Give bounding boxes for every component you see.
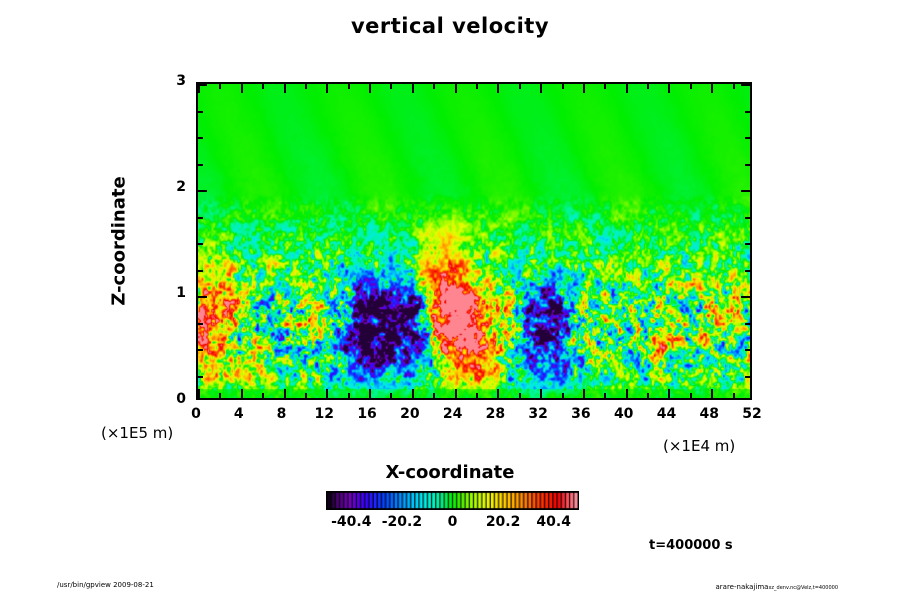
x-axis-tick-minor [433, 393, 435, 398]
y-axis-tick-label: 0 [158, 391, 186, 407]
x-axis-tick-top-major [241, 84, 243, 93]
y-axis-tick-minor [198, 376, 203, 378]
x-axis-tick-label: 44 [646, 406, 686, 422]
x-axis-tick-label: 24 [433, 406, 473, 422]
x-axis-tick-minor [305, 393, 307, 398]
footer-user: arare-nakajima [716, 583, 769, 591]
x-axis-tick-major [540, 389, 542, 398]
x-axis-tick-major [626, 389, 628, 398]
x-axis-tick-top-minor [604, 84, 606, 89]
y-axis-tick-minor [198, 323, 203, 325]
x-axis-tick-top-major [540, 84, 542, 93]
x-axis-tick-top-minor [647, 84, 649, 89]
y-axis-tick-right-minor [745, 111, 750, 113]
colorbar [326, 491, 579, 510]
x-axis-tick-label: 0 [176, 406, 216, 422]
x-axis-tick-top-minor [262, 84, 264, 89]
x-axis-tick-label: 8 [262, 406, 302, 422]
x-axis-tick-top-major [455, 84, 457, 93]
x-axis-tick-major [497, 389, 499, 398]
vertical-velocity-heatmap [198, 84, 750, 398]
x-axis-tick-major [326, 389, 328, 398]
x-axis-tick-label: 16 [347, 406, 387, 422]
time-annotation: t=400000 s [649, 538, 733, 553]
footer-detail: xz_denv.nc@Velz,t=400000 [768, 585, 838, 591]
y-axis-tick-major [198, 84, 207, 86]
y-axis-tick-minor [198, 243, 203, 245]
x-axis-tick-major [412, 389, 414, 398]
x-axis-tick-major [198, 389, 200, 398]
x-axis-tick-top-major [284, 84, 286, 93]
y-axis-tick-label: 1 [158, 285, 186, 301]
x-axis-tick-label: 52 [732, 406, 772, 422]
x-axis-tick-minor [690, 393, 692, 398]
x-axis-tick-top-major [626, 84, 628, 93]
x-axis-tick-minor [519, 393, 521, 398]
x-axis-tick-minor [647, 393, 649, 398]
x-axis-tick-top-minor [433, 84, 435, 89]
footer-right-text: arare-nakajimaxz_denv.nc@Velz,t=400000 [716, 583, 839, 591]
y-axis-tick-label: 3 [158, 73, 186, 89]
x-axis-tick-top-major [711, 84, 713, 93]
x-axis-tick-label: 4 [219, 406, 259, 422]
y-axis-tick-minor [198, 137, 203, 139]
x-axis-tick-minor [262, 393, 264, 398]
colorbar-tick-label: 40.4 [524, 514, 584, 530]
x-axis-tick-label: 36 [561, 406, 601, 422]
y-axis-tick-right-major [741, 190, 750, 192]
x-axis-tick-label: 28 [475, 406, 515, 422]
x-axis-tick-major [583, 389, 585, 398]
y-axis-title: Z-coordinate [109, 176, 130, 305]
x-axis-tick-minor [348, 393, 350, 398]
x-axis-tick-minor [562, 393, 564, 398]
y-axis-tick-minor [198, 111, 203, 113]
x-axis-tick-top-major [369, 84, 371, 93]
footer-left-text: /usr/bin/gpview 2009-08-21 [57, 581, 154, 589]
x-axis-tick-top-minor [733, 84, 735, 89]
x-axis-tick-minor [733, 393, 735, 398]
x-axis-tick-label: 40 [604, 406, 644, 422]
x-axis-tick-minor [219, 393, 221, 398]
page-title: vertical velocity [0, 14, 900, 38]
y-axis-tick-right-minor [745, 217, 750, 219]
x-axis-tick-top-minor [348, 84, 350, 89]
x-axis-tick-minor [604, 393, 606, 398]
x-axis-tick-label: 48 [689, 406, 729, 422]
x-axis-tick-top-minor [305, 84, 307, 89]
y-axis-tick-right-minor [745, 270, 750, 272]
y-axis-tick-right-major [741, 296, 750, 298]
y-axis-tick-right-minor [745, 323, 750, 325]
y-axis-tick-right-minor [745, 376, 750, 378]
y-axis-tick-minor [198, 270, 203, 272]
y-axis-tick-minor [198, 164, 203, 166]
x-axis-tick-top-minor [390, 84, 392, 89]
x-axis-tick-major [369, 389, 371, 398]
x-unit-right-label: (×1E4 m) [663, 437, 735, 455]
x-axis-tick-major [455, 389, 457, 398]
x-axis-tick-label: 12 [304, 406, 344, 422]
y-axis-tick-minor [198, 349, 203, 351]
x-axis-tick-top-minor [562, 84, 564, 89]
x-axis-tick-major [241, 389, 243, 398]
x-axis-tick-major [284, 389, 286, 398]
y-axis-tick-right-minor [745, 164, 750, 166]
x-axis-tick-top-minor [519, 84, 521, 89]
y-axis-tick-right-minor [745, 243, 750, 245]
y-axis-tick-major [198, 190, 207, 192]
x-axis-tick-top-minor [690, 84, 692, 89]
x-axis-tick-top-minor [219, 84, 221, 89]
x-axis-tick-top-major [412, 84, 414, 93]
x-axis-tick-minor [390, 393, 392, 398]
y-axis-tick-right-major [741, 84, 750, 86]
x-axis-tick-major [668, 389, 670, 398]
y-axis-tick-right-minor [745, 349, 750, 351]
plot-frame [196, 82, 752, 400]
x-axis-tick-top-major [497, 84, 499, 93]
x-axis-tick-major [711, 389, 713, 398]
y-axis-tick-right-minor [745, 137, 750, 139]
y-axis-tick-major [198, 296, 207, 298]
x-unit-left-label: (×1E5 m) [101, 424, 173, 442]
colorbar-gradient [326, 491, 579, 510]
x-axis-tick-top-major [326, 84, 328, 93]
x-axis-title: X-coordinate [0, 462, 900, 483]
x-axis-tick-minor [476, 393, 478, 398]
y-axis-tick-label: 2 [158, 179, 186, 195]
x-axis-tick-top-major [583, 84, 585, 93]
x-axis-tick-top-minor [476, 84, 478, 89]
y-axis-tick-minor [198, 217, 203, 219]
x-axis-tick-label: 20 [390, 406, 430, 422]
x-axis-tick-top-major [668, 84, 670, 93]
x-axis-tick-label: 32 [518, 406, 558, 422]
